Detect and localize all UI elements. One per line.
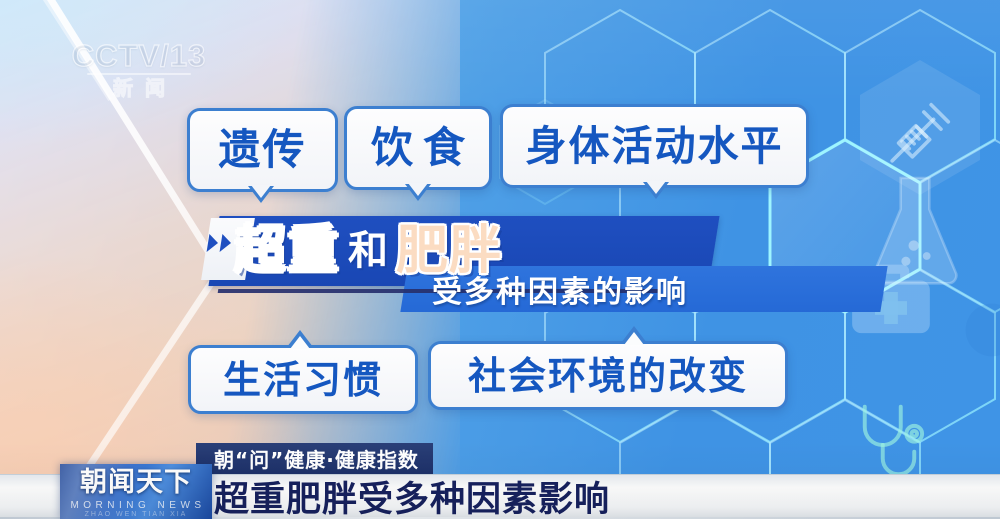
- factor-bubble-genetics: 遗传: [187, 108, 338, 192]
- program-name: 朝闻天下: [60, 469, 212, 497]
- bubble-tail-fill: [408, 183, 428, 196]
- factor-label: 生活习惯: [223, 361, 383, 399]
- program-name-pinyin: ZHAO WEN TIAN XIA: [60, 511, 212, 518]
- cctv-logo-text: CCTV/13: [64, 40, 214, 71]
- center-banner: 超重 和 肥胖 受多种因素的影响: [0, 196, 1000, 326]
- banner-subtitle: 受多种因素的影响: [432, 266, 688, 312]
- cctv-logo-subtitle: 新闻: [64, 78, 214, 100]
- factor-label: 饮食: [361, 127, 475, 169]
- cctv-logo-rule: [87, 73, 191, 75]
- broadcast-screenshot: CCTV/13 新闻 遗传 饮食 身体活动水平 超重 和 肥胖 受多种因素的影响…: [0, 0, 1000, 519]
- factor-bubble-lifestyle: 生活习惯: [188, 345, 418, 414]
- program-logo: 朝闻天下 MORNING NEWS ZHAO WEN TIAN XIA: [60, 464, 212, 519]
- bubble-tail-fill: [290, 336, 310, 349]
- factor-label: 社会环境的改变: [468, 357, 748, 395]
- bubble-tail-fill: [624, 332, 644, 345]
- bubble-tail-fill: [646, 181, 666, 194]
- program-name-english: MORNING NEWS: [60, 500, 212, 511]
- topic-label: 朝“问”健康·健康指数: [214, 444, 419, 473]
- news-headline: 超重肥胖受多种因素影响: [214, 474, 610, 519]
- banner-conjunction: 和: [348, 231, 388, 271]
- factor-bubble-physical-activity: 身体活动水平: [500, 104, 809, 188]
- banner-chevron-marker: [207, 234, 233, 252]
- factor-label: 身体活动水平: [526, 126, 784, 167]
- topic-bar: 朝“问”健康·健康指数: [196, 443, 433, 474]
- factor-label: 遗传: [218, 129, 306, 171]
- factor-bubble-diet: 饮食: [344, 106, 492, 190]
- cctv-channel-logo: CCTV/13 新闻: [64, 40, 214, 100]
- factor-bubble-social-environment: 社会环境的改变: [428, 341, 788, 410]
- banner-word-overweight: 超重: [234, 225, 340, 277]
